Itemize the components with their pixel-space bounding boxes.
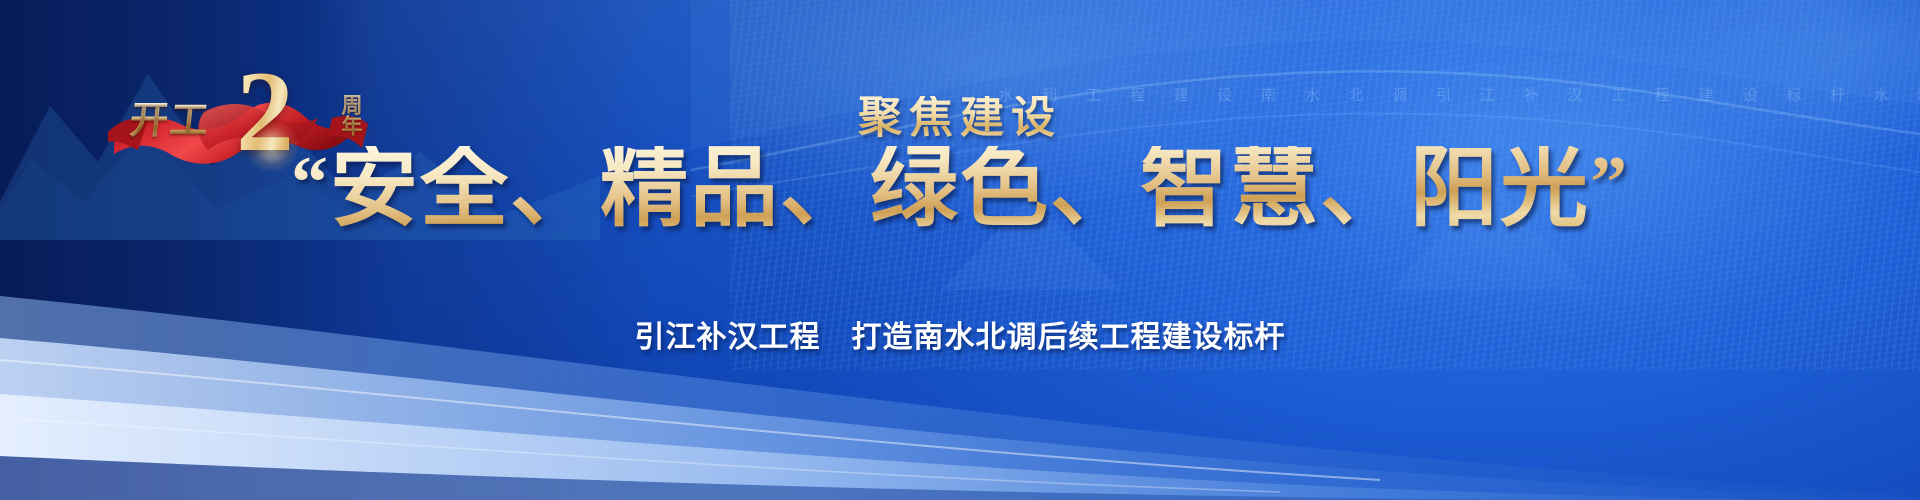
page-eyebrow: 聚焦建设 <box>858 96 1062 140</box>
page-title: “安全、精品、绿色、智慧、阳光” <box>0 146 1920 234</box>
page-title-text: 安全、精品、绿色、智慧、阳光 <box>330 141 1590 238</box>
page-subtitle: 引江补汉工程 打造南水北调后续工程建设标杆 <box>0 312 1920 356</box>
anniversary-banner: 水 利 工 程 建 设 南 水 北 调 引 江 补 汉 工 程 建 设 标 杆 … <box>0 0 1920 500</box>
quote-open-mark: “ <box>291 142 330 224</box>
flowing-wave-icon <box>0 242 1920 500</box>
headline-block: 聚焦建设 <box>0 96 1920 140</box>
quote-close-mark: ” <box>1590 142 1629 224</box>
